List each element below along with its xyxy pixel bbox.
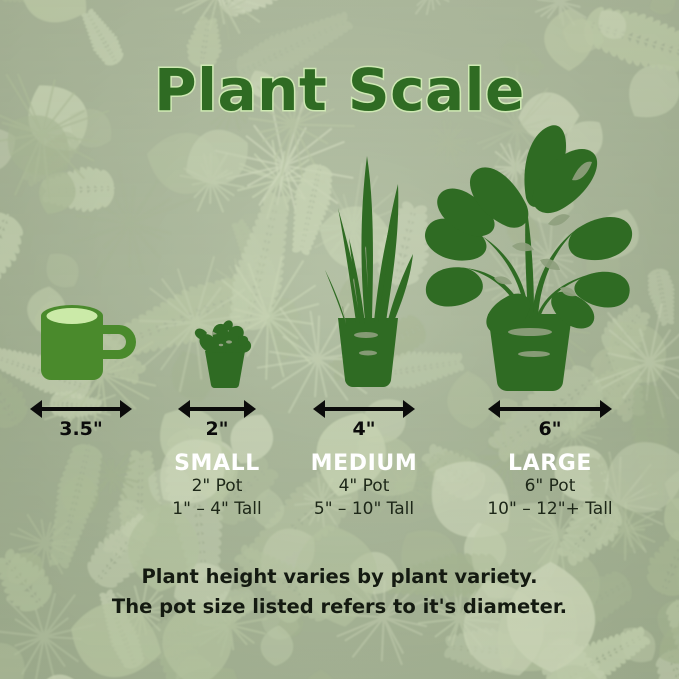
caption-large: LARGE 6" Pot 10" – 12"+ Tall <box>455 452 645 521</box>
specimen-small <box>155 210 295 390</box>
coffee-mug-icon <box>33 298 141 390</box>
caption-height-medium: 5" – 10" Tall <box>269 498 459 521</box>
specimen-large <box>420 120 635 390</box>
ruler-label-medium: 4" <box>313 418 415 440</box>
ruler-label-large: 6" <box>488 418 612 440</box>
arrow-right-icon <box>403 400 415 418</box>
footnote: Plant height varies by plant variety. Th… <box>0 562 679 622</box>
footnote-line-2: The pot size listed refers to it's diame… <box>0 592 679 622</box>
caption-name-large: LARGE <box>455 452 645 475</box>
ruler-label-small: 2" <box>178 418 256 440</box>
arrow-right-icon <box>120 400 132 418</box>
caption-pot-large: 6" Pot <box>455 475 645 498</box>
specimen-medium <box>295 150 440 390</box>
ruler-bar <box>186 407 248 411</box>
small-potted-plant-icon <box>188 318 262 390</box>
arrow-right-icon <box>600 400 612 418</box>
specimen-mug <box>22 180 152 390</box>
caption-height-large: 10" – 12"+ Tall <box>455 498 645 521</box>
ruler-bar <box>321 407 407 411</box>
large-leafy-plant-icon <box>422 118 634 390</box>
infographic-canvas: Plant Scale 3.5" <box>0 0 679 679</box>
footnote-line-1: Plant height varies by plant variety. <box>0 562 679 592</box>
ruler-large: 6" <box>488 398 612 420</box>
ruler-small: 2" <box>178 398 256 420</box>
caption-medium: MEDIUM 4" Pot 5" – 10" Tall <box>269 452 459 521</box>
ruler-bar <box>496 407 604 411</box>
snake-plant-icon <box>316 150 420 390</box>
ruler-label-mug: 3.5" <box>30 418 132 440</box>
caption-pot-medium: 4" Pot <box>269 475 459 498</box>
caption-name-medium: MEDIUM <box>269 452 459 475</box>
arrow-right-icon <box>244 400 256 418</box>
ruler-medium: 4" <box>313 398 415 420</box>
ruler-bar <box>38 407 124 411</box>
ruler-mug: 3.5" <box>30 398 132 420</box>
